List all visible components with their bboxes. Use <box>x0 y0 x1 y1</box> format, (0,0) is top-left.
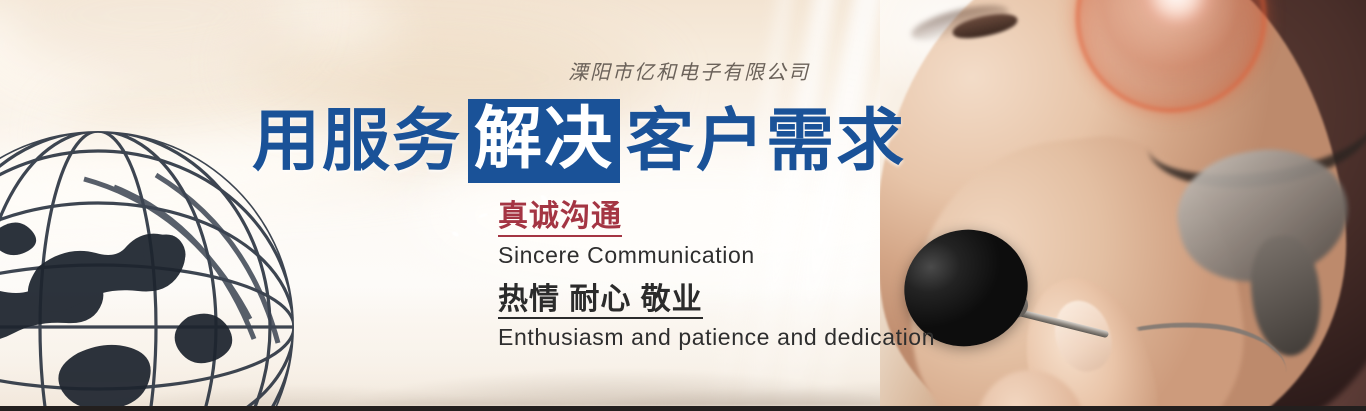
promo-banner: 溧阳市亿和电子有限公司 用服务 解决 客户需求 真诚沟通 Sincere Com… <box>0 0 1366 411</box>
slogan-en-enthusiasm: Enthusiasm and patience and dedication <box>498 324 935 351</box>
slogan-item: 热情 耐心 敬业 Enthusiasm and patience and ded… <box>498 269 935 352</box>
slogan-en-sincere: Sincere Communication <box>498 242 935 269</box>
bottom-strip <box>0 406 1366 411</box>
headline-after: 客户需求 <box>626 107 906 175</box>
headline: 用服务 解决 客户需求 <box>252 99 906 183</box>
slogan-cn-sincere: 真诚沟通 <box>498 200 622 237</box>
banner-content: 溧阳市亿和电子有限公司 用服务 解决 客户需求 真诚沟通 Sincere Com… <box>0 0 1366 411</box>
headline-before: 用服务 <box>252 107 462 175</box>
headline-highlight: 解决 <box>468 99 620 183</box>
slogan-list: 真诚沟通 Sincere Communication 热情 耐心 敬业 Enth… <box>498 200 935 351</box>
slogan-cn-enthusiasm: 热情 耐心 敬业 <box>498 283 703 320</box>
company-name: 溧阳市亿和电子有限公司 <box>568 56 810 85</box>
slogan-item: 真诚沟通 Sincere Communication <box>498 200 935 269</box>
